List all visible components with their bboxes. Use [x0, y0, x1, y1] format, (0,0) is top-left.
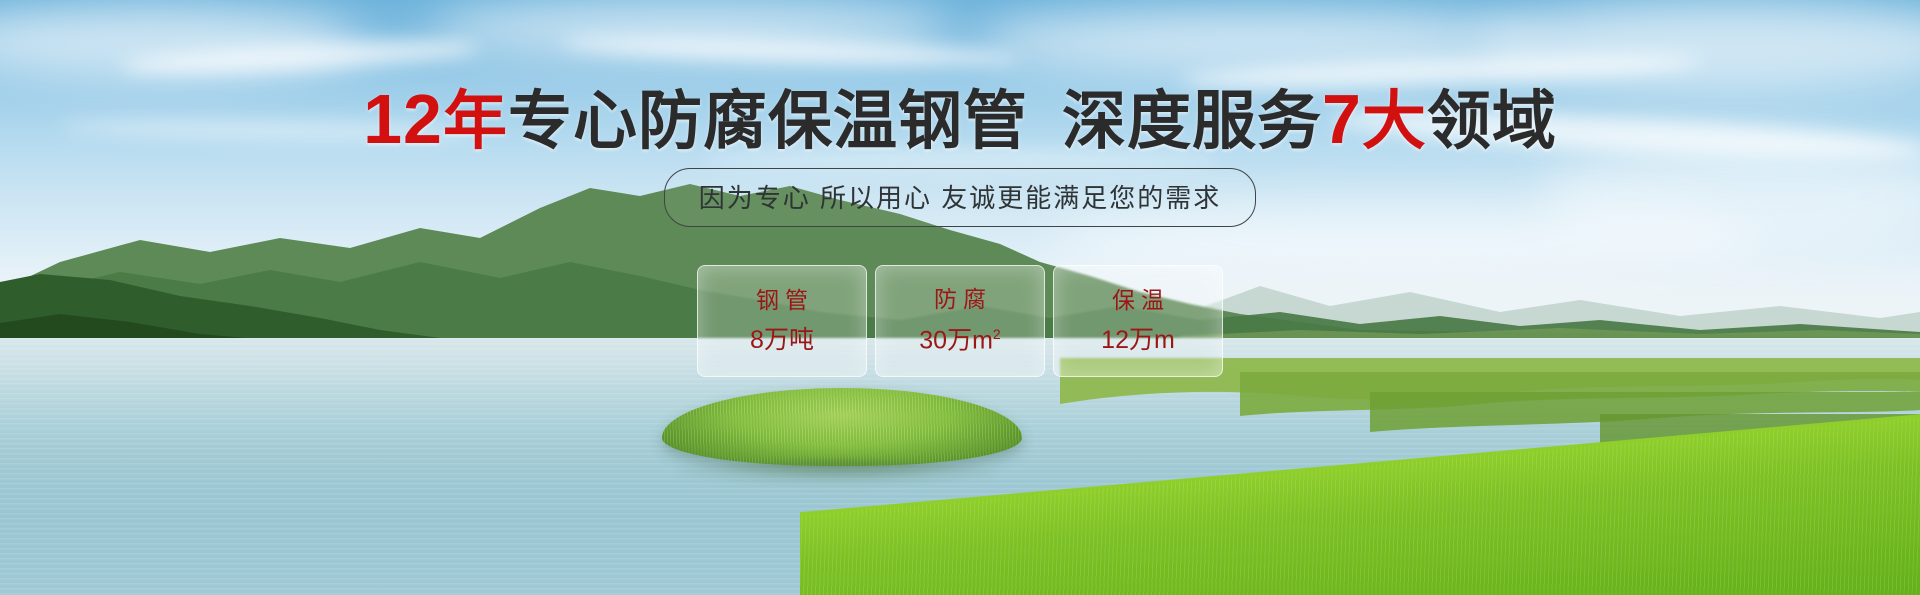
banner-subtitle-pill: 因为专心 所以用心 友诚更能满足您的需求 [664, 168, 1256, 227]
headline-years-number: 12 [363, 80, 443, 158]
headline-main-text: 专心防腐保温钢管 [508, 85, 1028, 157]
stat-card-group: 钢管 8万吨 防腐 30万m2 保温 12万m [0, 265, 1920, 377]
headline-years-unit: 年 [443, 85, 508, 157]
hero-banner: 12年专心防腐保温钢管深度服务7大领域 因为专心 所以用心 友诚更能满足您的需求… [0, 0, 1920, 595]
stat-card-steel-pipe: 钢管 8万吨 [697, 265, 867, 377]
banner-headline: 12年专心防腐保温钢管深度服务7大领域 [0, 84, 1920, 154]
headline-service-text: 深度服务 [1062, 85, 1322, 157]
stat-card-value-main: 30万m [919, 327, 993, 355]
stat-card-value: 30万m2 [919, 327, 1000, 353]
stat-card-value: 12万m [1101, 328, 1175, 353]
stat-card-label: 保温 [1106, 289, 1170, 312]
headline-fields-unit: 大 [1362, 85, 1427, 157]
headline-fields-text: 领域 [1427, 85, 1557, 157]
stat-card-label: 钢管 [750, 289, 814, 312]
stat-card-value: 8万吨 [750, 328, 814, 353]
stat-card-insulation: 保温 12万m [1053, 265, 1223, 377]
stat-card-value-superscript: 2 [993, 326, 1001, 342]
stat-card-label: 防腐 [928, 288, 992, 311]
banner-subtitle-wrapper: 因为专心 所以用心 友诚更能满足您的需求 [0, 168, 1920, 227]
stat-card-value-main: 8万吨 [750, 326, 814, 354]
headline-fields-number: 7 [1322, 80, 1362, 158]
banner-content: 12年专心防腐保温钢管深度服务7大领域 因为专心 所以用心 友诚更能满足您的需求… [0, 0, 1920, 595]
stat-card-anticorrosion: 防腐 30万m2 [875, 265, 1045, 377]
stat-card-value-main: 12万m [1101, 326, 1175, 354]
